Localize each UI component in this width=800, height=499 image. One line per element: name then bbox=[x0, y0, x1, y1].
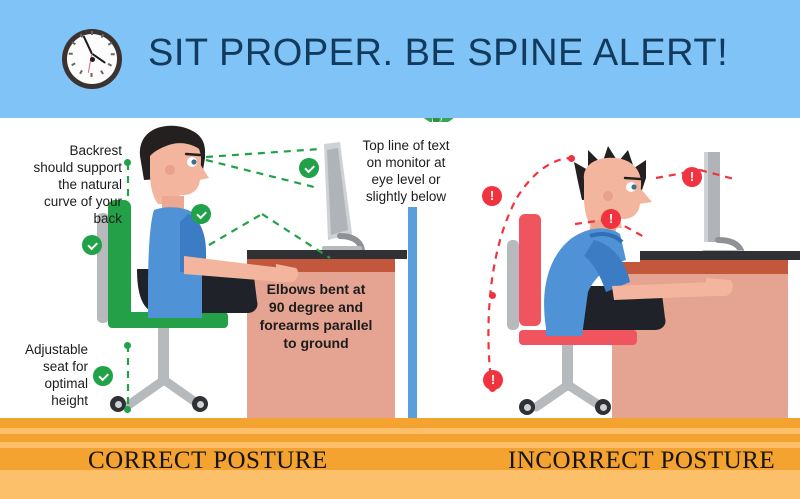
guide-dot-backrest-top bbox=[124, 159, 131, 166]
guide-dot-seat-bottom bbox=[124, 406, 131, 413]
footer-band-3 bbox=[0, 434, 800, 442]
check-icon-elbow bbox=[191, 204, 211, 224]
footer-band-1 bbox=[0, 418, 800, 428]
annotation-monitor: Top line of text on monitor at eye level… bbox=[345, 137, 467, 205]
annotation-seat: Adjustable seat for optimal height bbox=[10, 341, 88, 409]
label-correct-posture: CORRECT POSTURE bbox=[88, 447, 328, 475]
check-icon-monitor bbox=[299, 158, 319, 178]
check-icon-backrest bbox=[82, 235, 102, 255]
check-icon-seat bbox=[93, 366, 113, 386]
annotation-backrest: Backrest should support the natural curv… bbox=[10, 142, 122, 227]
guide-dot-spine-top bbox=[568, 155, 575, 162]
guide-dot-backrest-bottom bbox=[124, 312, 131, 319]
guide-dot-seat-top bbox=[124, 342, 131, 349]
exclamation-icon-seat bbox=[483, 370, 503, 390]
annotation-elbows: Elbows bent at 90 degree and forearms pa… bbox=[252, 280, 380, 352]
exclamation-icon-neck bbox=[601, 209, 621, 229]
exclamation-icon-monitor bbox=[682, 167, 702, 187]
exclamation-icon-back bbox=[482, 186, 502, 206]
guide-dot-elbow bbox=[489, 292, 496, 299]
guide-lines-right bbox=[400, 0, 800, 430]
infographic-canvas: SIT PROPER. BE SPINE ALERT! ORTHO CARE H… bbox=[0, 0, 800, 499]
label-incorrect-posture: INCORRECT POSTURE bbox=[508, 447, 775, 475]
